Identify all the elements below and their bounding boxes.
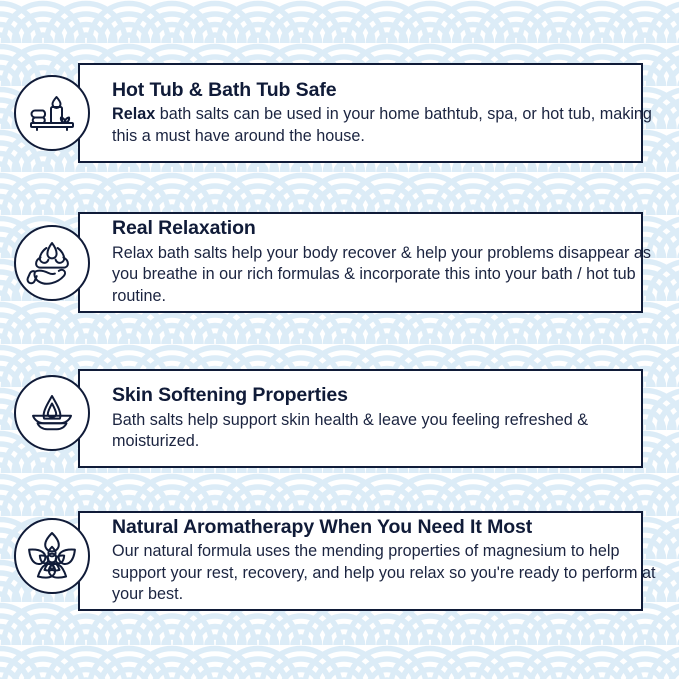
five-petal-flower-icon <box>14 518 90 594</box>
feature-title: Real Relaxation <box>112 217 665 239</box>
feature-text-block: Real Relaxation Relax bath salts help yo… <box>112 212 665 313</box>
feature-description-lead: Relax <box>112 105 155 123</box>
feature-title: Hot Tub & Bath Tub Safe <box>112 79 665 101</box>
water-droplet-basin-icon <box>14 375 90 451</box>
feature-item-real-relaxation: Real Relaxation Relax bath salts help yo… <box>0 212 679 313</box>
hand-holding-lotus-icon <box>14 225 90 301</box>
feature-description: Relax bath salts can be used in your hom… <box>112 104 665 147</box>
feature-description: Relax bath salts help your body recover … <box>112 243 665 308</box>
feature-title: Skin Softening Properties <box>112 384 665 406</box>
feature-text-block: Skin Softening Properties Bath salts hel… <box>112 369 665 468</box>
feature-item-hot-tub-bath-tub-safe: Hot Tub & Bath Tub Safe Relax bath salts… <box>0 63 679 163</box>
feature-title: Natural Aromatherapy When You Need It Mo… <box>112 516 665 538</box>
feature-item-natural-aromatherapy: Natural Aromatherapy When You Need It Mo… <box>0 511 679 611</box>
feature-description-rest: bath salts can be used in your home bath… <box>112 105 652 145</box>
feature-description: Our natural formula uses the mending pro… <box>112 541 665 606</box>
candle-towels-tray-icon <box>14 75 90 151</box>
feature-list: Hot Tub & Bath Tub Safe Relax bath salts… <box>0 0 679 679</box>
feature-description: Bath salts help support skin health & le… <box>112 410 665 453</box>
feature-text-block: Natural Aromatherapy When You Need It Mo… <box>112 511 665 611</box>
feature-text-block: Hot Tub & Bath Tub Safe Relax bath salts… <box>112 63 665 163</box>
feature-item-skin-softening-properties: Skin Softening Properties Bath salts hel… <box>0 369 679 468</box>
